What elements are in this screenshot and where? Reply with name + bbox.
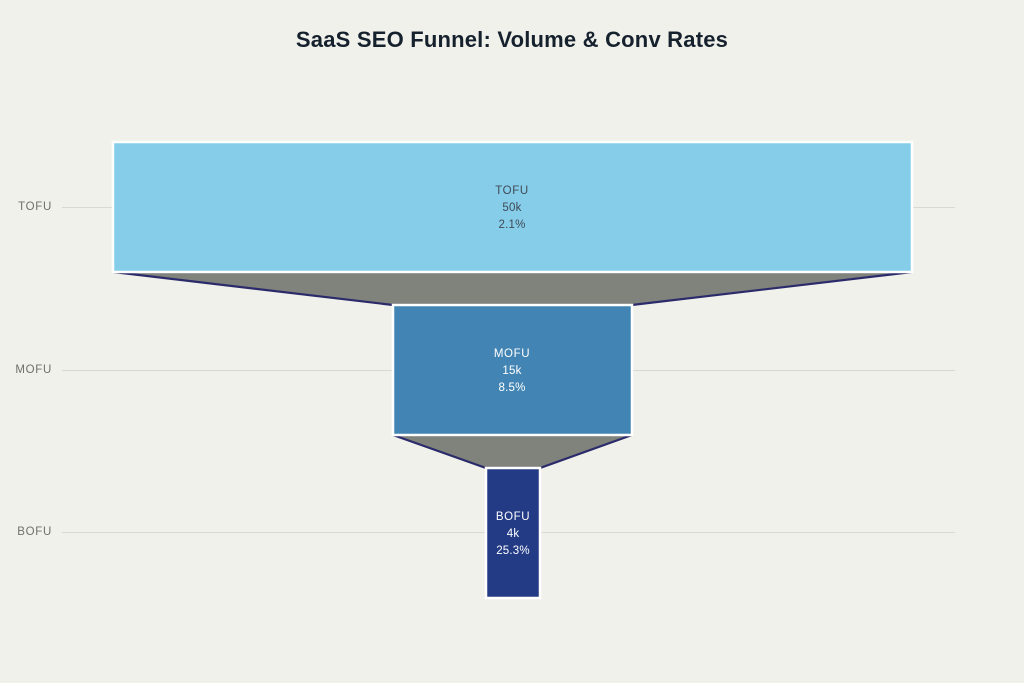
funnel-shapes: [0, 0, 1024, 683]
funnel-chart: SaaS SEO Funnel: Volume & Conv Rates TOF…: [0, 0, 1024, 683]
funnel-stage-tofu[interactable]: [113, 142, 912, 272]
funnel-stage-bofu[interactable]: [486, 468, 540, 598]
funnel-stage-mofu[interactable]: [393, 305, 632, 435]
connector-tofu-mofu: [113, 272, 912, 305]
connector-mofu-bofu: [393, 435, 632, 468]
